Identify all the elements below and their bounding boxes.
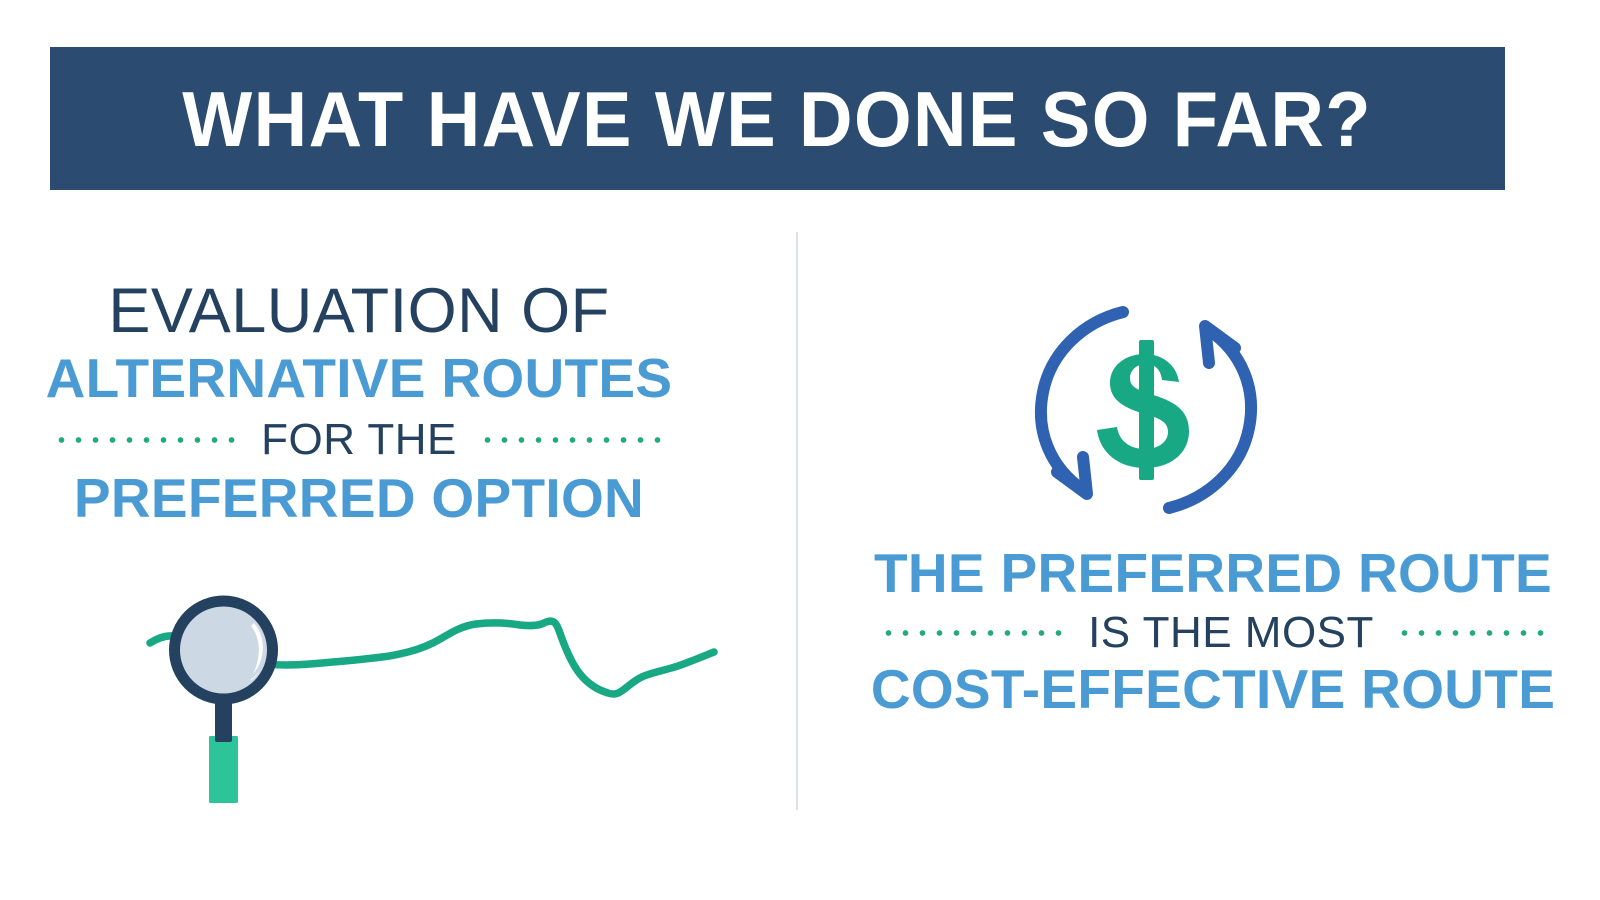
right-column: THE PREFERRED ROUTE IS THE MOST COST-EFF…: [796, 190, 1600, 900]
left-heading-line-4: PREFERRED OPTION: [0, 470, 718, 528]
left-column: EVALUATION OF ALTERNATIVE ROUTES FOR THE…: [0, 190, 796, 900]
left-heading-line-2: ALTERNATIVE ROUTES: [0, 350, 718, 408]
left-heading-block: EVALUATION OF ALTERNATIVE ROUTES FOR THE…: [0, 278, 796, 528]
content-area: EVALUATION OF ALTERNATIVE ROUTES FOR THE…: [0, 190, 1600, 900]
right-heading-line-1: THE PREFERRED ROUTE: [826, 545, 1600, 603]
left-heading-line-3: FOR THE: [261, 418, 457, 462]
dotted-rule-left-icon: [880, 630, 1066, 636]
page-title: WHAT HAVE WE DONE SO FAR?: [183, 80, 1373, 158]
magnifying-glass-over-route-icon: [120, 590, 720, 820]
right-heading-line-2: IS THE MOST: [1088, 611, 1374, 655]
dotted-rule-right-icon: [1396, 630, 1546, 636]
right-heading-block: THE PREFERRED ROUTE IS THE MOST COST-EFF…: [796, 545, 1600, 719]
dotted-rule-right-icon: [479, 437, 665, 443]
left-heading-line-3-row: FOR THE: [0, 418, 718, 462]
title-banner: WHAT HAVE WE DONE SO FAR?: [50, 47, 1505, 190]
left-heading-line-1: EVALUATION OF: [0, 278, 718, 344]
dotted-rule-left-icon: [53, 437, 239, 443]
right-heading-line-3: COST-EFFECTIVE ROUTE: [826, 661, 1600, 719]
dollar-cycle-icon: [1011, 290, 1281, 530]
right-heading-line-2-row: IS THE MOST: [826, 611, 1600, 655]
